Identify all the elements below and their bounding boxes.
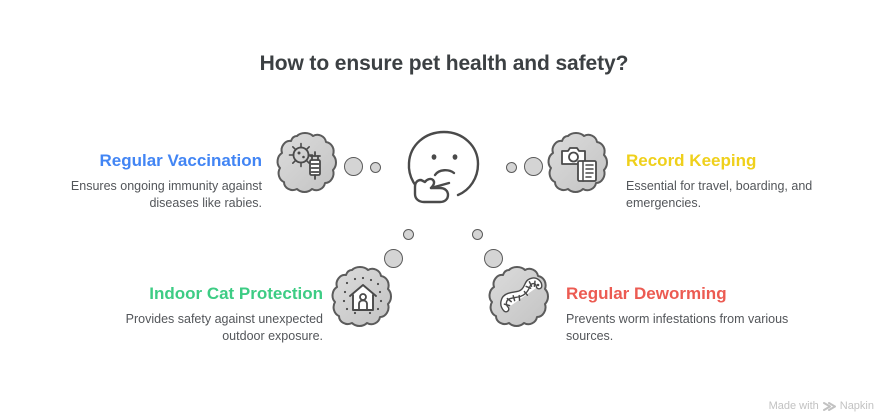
thought-dot-left-small [370,162,381,173]
heading-record-keeping: Record Keeping [626,150,858,171]
body-regular-deworming: Prevents worm infestations from various … [566,311,801,345]
thought-dot-right-large [524,157,543,176]
thought-dot-right-small [506,162,517,173]
block-indoor-cat-protection: Indoor Cat Protection Provides safety ag… [88,283,323,345]
page-title: How to ensure pet health and safety? [0,52,888,76]
body-record-keeping: Essential for travel, boarding, and emer… [626,178,858,212]
watermark: Made with Napkin [769,400,874,412]
body-regular-vaccination: Ensures ongoing immunity against disease… [30,178,262,212]
heading-indoor-cat-protection: Indoor Cat Protection [88,283,323,304]
watermark-brand: Napkin [840,400,874,412]
virus-syringe-icon [277,131,339,193]
body-indoor-cat-protection: Provides safety against unexpected outdo… [88,311,323,345]
block-regular-vaccination: Regular Vaccination Ensures ongoing immu… [30,150,262,212]
block-regular-deworming: Regular Deworming Prevents worm infestat… [566,283,801,345]
watermark-made-with: Made with [769,400,819,412]
thought-dot-bottom-right-small [472,229,483,240]
house-person-icon [332,265,394,327]
camera-document-icon [548,131,610,193]
thinking-face-icon [405,128,483,204]
block-record-keeping: Record Keeping Essential for travel, boa… [626,150,858,212]
heading-regular-vaccination: Regular Vaccination [30,150,262,171]
thought-dot-bottom-left-small [403,229,414,240]
heading-regular-deworming: Regular Deworming [566,283,801,304]
napkin-chevron-icon [823,401,836,412]
worm-icon [489,265,551,327]
infographic-canvas: How to ensure pet health and safety? Reg… [0,0,888,420]
thought-dot-left-large [344,157,363,176]
